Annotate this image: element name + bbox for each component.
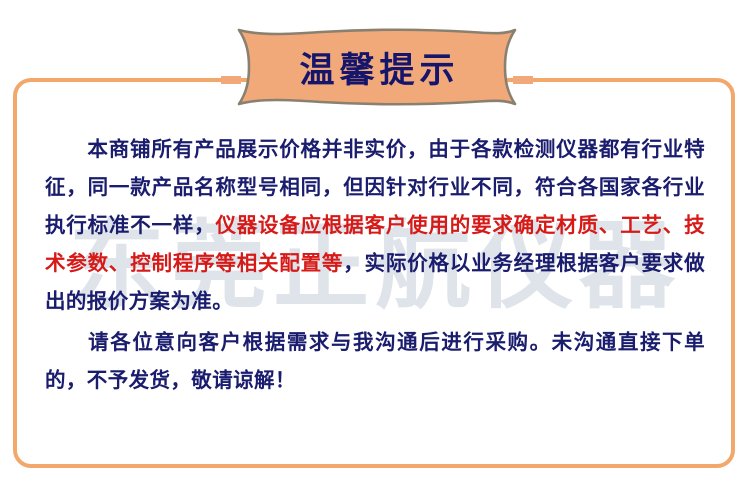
- notice-paragraph-1: 本商铺所有产品展示价格并非实价，由于各款检测仪器都有行业特征，同一款产品名称型号…: [45, 130, 705, 320]
- notice-body: 本商铺所有产品展示价格并非实价，由于各款检测仪器都有行业特征，同一款产品名称型号…: [13, 78, 735, 468]
- banner-ribbon: 温馨提示: [221, 28, 533, 106]
- banner-title: 温馨提示: [221, 28, 533, 106]
- notice-p2-seg1: 请各位意向客户根据需求与我沟通后进行采购。未沟通直接下单的，不予发货，敬请谅解！: [45, 330, 705, 392]
- notice-paragraph-2: 请各位意向客户根据需求与我沟通后进行采购。未沟通直接下单的，不予发货，敬请谅解！: [45, 323, 705, 399]
